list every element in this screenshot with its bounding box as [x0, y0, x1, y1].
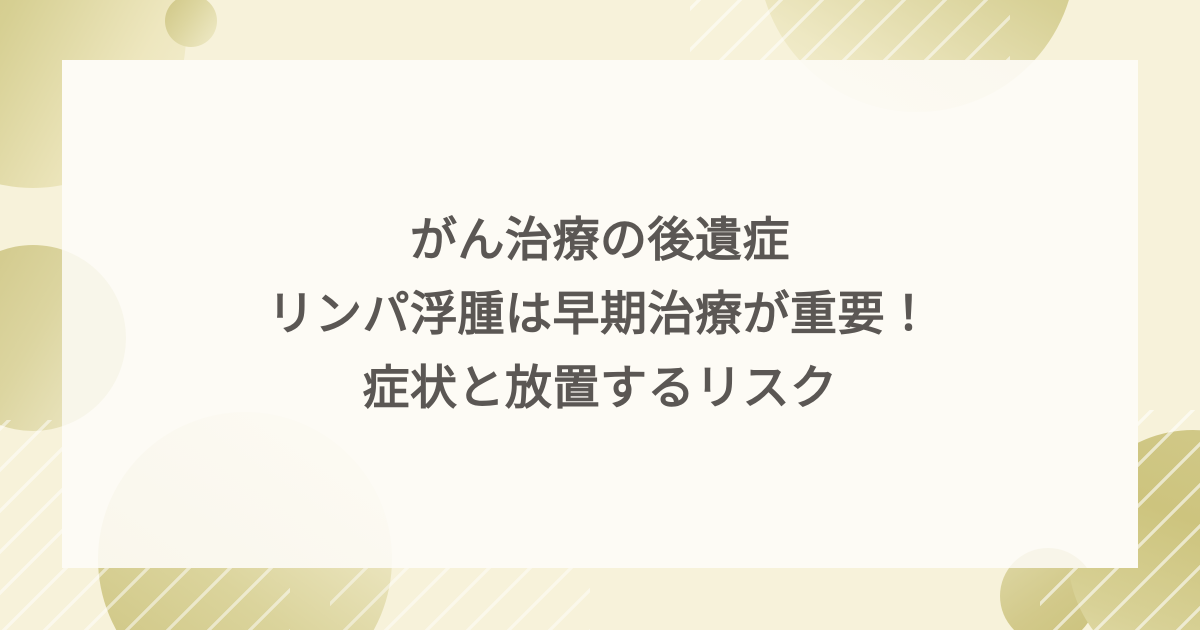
- circle-top-left-small-icon: [165, 0, 217, 47]
- title-line-2: リンパ浮腫は早期治療が重要！: [268, 277, 933, 351]
- page-title: がん治療の後遺症 リンパ浮腫は早期治療が重要！ 症状と放置するリスク: [62, 60, 1138, 568]
- title-line-1: がん治療の後遺症: [410, 203, 790, 277]
- title-line-3: 症状と放置するリスク: [363, 351, 838, 425]
- eyecatch-canvas: がん治療の後遺症 リンパ浮腫は早期治療が重要！ 症状と放置するリスク: [0, 0, 1200, 630]
